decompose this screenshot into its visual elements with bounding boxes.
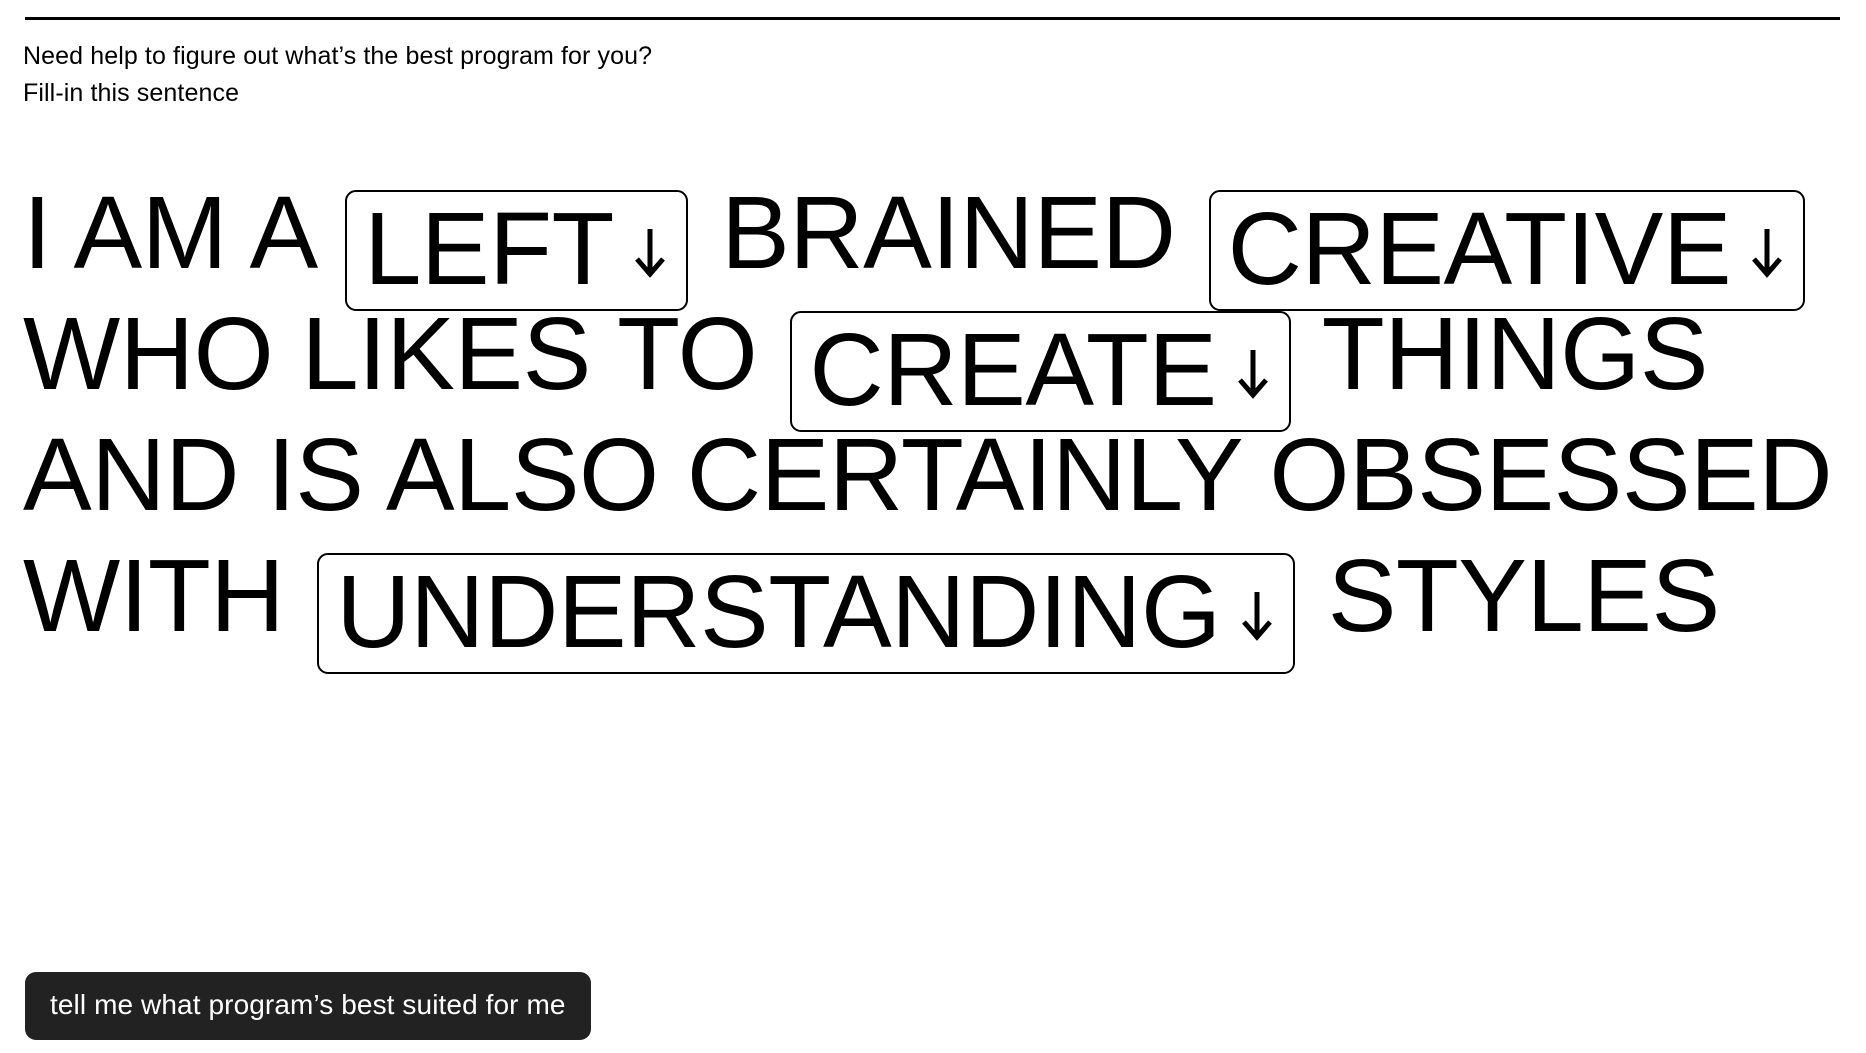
sentence-text-i-am-a: I AM A xyxy=(23,175,312,290)
sentence-text-things: THINGS xyxy=(1322,296,1708,411)
intro-line-1: Need help to figure out what’s the best … xyxy=(23,38,652,75)
arrow-down-icon xyxy=(630,226,670,278)
dropdown-obsession-value: UNDERSTANDING xyxy=(336,560,1220,663)
dropdown-brain-side-value: LEFT xyxy=(364,197,614,300)
sentence-line-4: WITH UNDERSTANDING STYLES xyxy=(23,535,1833,656)
intro-line-2: Fill-in this sentence xyxy=(23,75,652,112)
sentence-text-brained: BRAINED xyxy=(721,175,1175,290)
intro-copy: Need help to figure out what’s the best … xyxy=(23,38,652,112)
dropdown-activity-value: CREATE xyxy=(809,318,1216,421)
fill-in-sentence: I AM A LEFT BRAINED CREATIVE xyxy=(23,172,1833,656)
header-divider xyxy=(25,17,1840,20)
dropdown-obsession[interactable]: UNDERSTANDING xyxy=(317,553,1294,674)
sentence-line-2: WHO LIKES TO CREATE THINGS xyxy=(23,293,1833,414)
fill-in-sentence-page: Need help to figure out what’s the best … xyxy=(0,0,1866,1053)
sentence-text-also-certainly-obsessed: AND IS ALSO CERTAINLY OBSESSED xyxy=(23,417,1832,532)
sentence-line-3: AND IS ALSO CERTAINLY OBSESSED xyxy=(23,414,1833,535)
sentence-text-with: WITH xyxy=(23,538,284,653)
arrow-down-icon xyxy=(1233,347,1273,399)
arrow-down-icon xyxy=(1237,589,1277,641)
sentence-line-1: I AM A LEFT BRAINED CREATIVE xyxy=(23,172,1833,293)
arrow-down-icon xyxy=(1747,226,1787,278)
dropdown-identity-value: CREATIVE xyxy=(1228,197,1731,300)
sentence-text-styles: STYLES xyxy=(1328,538,1720,653)
sentence-text-who-likes-to: WHO LIKES TO xyxy=(23,296,757,411)
submit-recommendation-button[interactable]: tell me what program’s best suited for m… xyxy=(25,972,591,1040)
